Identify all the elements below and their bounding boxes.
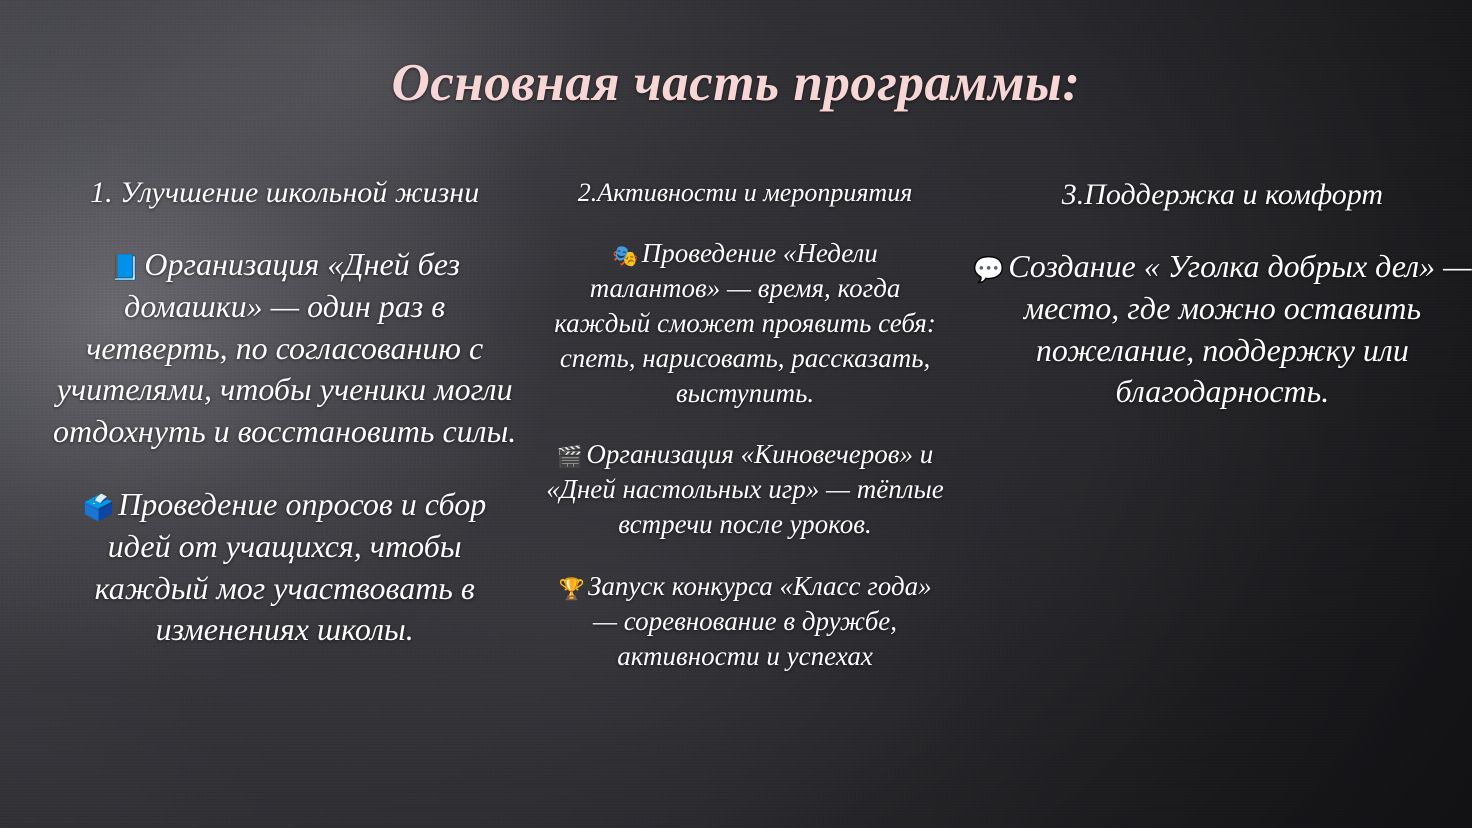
- column-1: 1. Улучшение школьной жизни 📘Организация…: [52, 170, 517, 683]
- blue-book-emoji: 📘: [109, 253, 140, 282]
- slide-content: Основная часть программы: 1. Улучшение ш…: [0, 0, 1472, 828]
- slide-title: Основная часть программы:: [356, 50, 1116, 117]
- bullet-item: 🎭Проведение «Недели талантов» — время, к…: [545, 236, 944, 410]
- column-2-bullets: 🎭Проведение «Недели талантов» — время, к…: [545, 236, 944, 673]
- column-3-heading: 3.Поддержка и комфорт: [973, 170, 1472, 214]
- presentation-slide: Основная часть программы: 1. Улучшение ш…: [0, 0, 1472, 828]
- column-3: 3.Поддержка и комфорт 💬Создание « Уголка…: [973, 170, 1472, 445]
- column-2: 2.Активности и мероприятия 🎭Проведение «…: [545, 170, 944, 700]
- clapper-board-emoji: 🎬: [557, 444, 583, 469]
- speech-balloon-emoji: 💬: [973, 255, 1004, 284]
- column-1-bullets: 📘Организация «Дней без домашки» — один р…: [52, 244, 517, 650]
- bullet-text: Проведение опросов и сбор идей от учащих…: [95, 486, 487, 647]
- column-2-heading: 2.Активности и мероприятия: [545, 170, 944, 209]
- bullet-item: 🗳️Проведение опросов и сбор идей от учащ…: [52, 484, 517, 650]
- bullet-text: Запуск конкурса «Класс года» — соревнова…: [588, 571, 932, 671]
- column-3-bullets: 💬Создание « Уголка добрых дел» — место, …: [973, 246, 1472, 412]
- bullet-text: Организация «Киновечеров» и «Дней настол…: [546, 439, 944, 539]
- bullet-item: 📘Организация «Дней без домашки» — один р…: [52, 244, 517, 452]
- column-1-heading: 1. Улучшение школьной жизни: [52, 170, 517, 212]
- bullet-item: 🏆Запуск конкурса «Класс года» — соревнов…: [545, 569, 944, 673]
- trophy-emoji: 🏆: [558, 576, 584, 601]
- bullet-item: 🎬Организация «Киновечеров» и «Дней насто…: [545, 437, 944, 541]
- bullet-text: Создание « Уголка добрых дел» — место, г…: [1008, 248, 1471, 409]
- bullet-item: 💬Создание « Уголка добрых дел» — место, …: [973, 246, 1472, 412]
- performing-arts-masks-emoji: 🎭: [612, 243, 638, 268]
- slide-columns: 1. Улучшение школьной жизни 📘Организация…: [0, 170, 1472, 820]
- ballot-box-emoji: 🗳️: [83, 493, 114, 522]
